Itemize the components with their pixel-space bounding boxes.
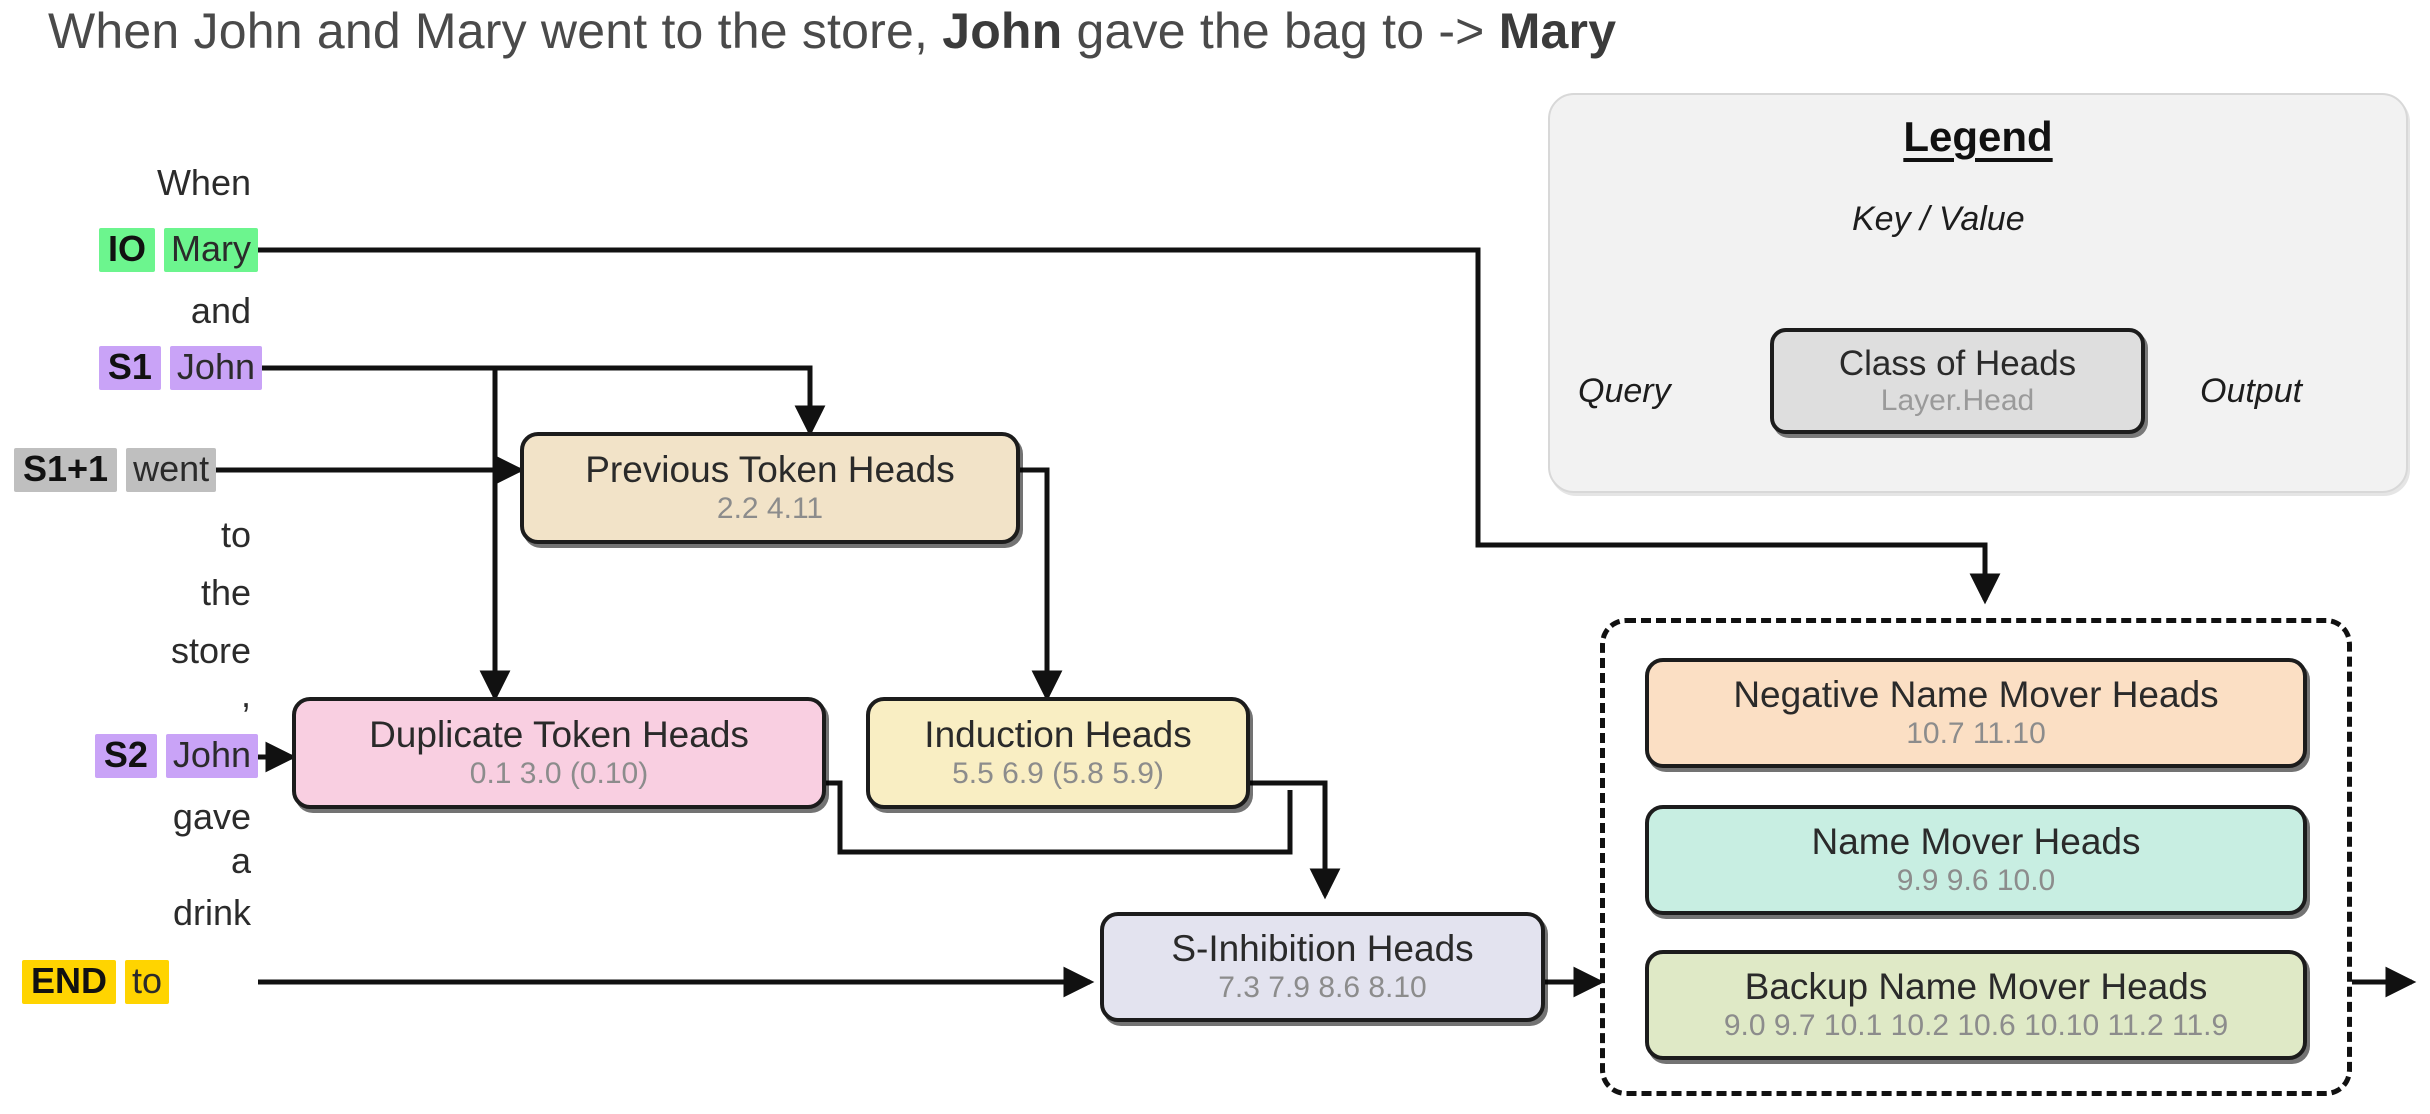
token-row: the xyxy=(0,570,258,618)
token-word-s2: John xyxy=(166,734,258,778)
token-tag-s1plus1: S1+1 xyxy=(14,448,117,492)
node-heads-list: 2.2 4.11 xyxy=(717,492,823,527)
node-negative-name-mover-heads[interactable]: Negative Name Mover Heads 10.7 11.10 xyxy=(1645,658,2307,768)
token-word: , xyxy=(234,674,258,718)
edge-s1-to-previous-token-heads xyxy=(262,368,810,432)
token-word-end: to xyxy=(125,960,169,1004)
token-row-s2: S2 John xyxy=(0,732,258,780)
legend-title: Legend xyxy=(1550,113,2406,161)
token-word: store xyxy=(164,630,258,674)
node-title: Backup Name Mover Heads xyxy=(1745,966,2208,1007)
edge-previous-token-to-induction xyxy=(1018,470,1047,697)
token-tag-end: END xyxy=(22,960,116,1004)
token-row-io: IO Mary xyxy=(0,226,258,274)
node-duplicate-token-heads[interactable]: Duplicate Token Heads 0.1 3.0 (0.10) xyxy=(292,697,826,809)
token-word: a xyxy=(224,840,258,884)
token-row: and xyxy=(0,288,258,336)
node-title: Previous Token Heads xyxy=(585,449,955,490)
token-tag-s2: S2 xyxy=(95,734,157,778)
node-heads-list: 7.3 7.9 8.6 8.10 xyxy=(1218,971,1427,1006)
token-word: When xyxy=(150,162,258,206)
node-title: Negative Name Mover Heads xyxy=(1733,674,2218,715)
node-s-inhibition-heads[interactable]: S-Inhibition Heads 7.3 7.9 8.6 8.10 xyxy=(1100,912,1545,1022)
token-word-s1plus1: went xyxy=(126,448,216,492)
node-backup-name-mover-heads[interactable]: Backup Name Mover Heads 9.0 9.7 10.1 10.… xyxy=(1645,950,2307,1060)
node-heads-list: 9.9 9.6 10.0 xyxy=(1897,864,2055,899)
legend-output-label: Output xyxy=(2200,372,2302,411)
token-row-s1plus1: S1+1 went xyxy=(0,446,264,494)
token-row: When xyxy=(0,160,258,208)
token-row-end: END to xyxy=(0,958,272,1006)
legend-query-label: Query xyxy=(1578,372,1671,411)
token-row: drink xyxy=(0,890,258,938)
node-heads-list: 5.5 6.9 (5.8 5.9) xyxy=(952,757,1164,792)
token-word: the xyxy=(194,572,258,616)
token-word: gave xyxy=(166,796,258,840)
token-row: store xyxy=(0,628,258,676)
node-title: Name Mover Heads xyxy=(1811,821,2140,862)
node-title: Duplicate Token Heads xyxy=(369,714,749,755)
token-word-s1: John xyxy=(170,346,262,390)
node-previous-token-heads[interactable]: Previous Token Heads 2.2 4.11 xyxy=(520,432,1020,544)
legend-node-subtitle: Layer.Head xyxy=(1881,384,2034,418)
node-heads-list: 10.7 11.10 xyxy=(1906,717,2046,752)
token-word: and xyxy=(184,290,258,334)
node-heads-list: 0.1 3.0 (0.10) xyxy=(470,757,648,792)
token-row: to xyxy=(0,512,258,560)
node-name-mover-heads[interactable]: Name Mover Heads 9.9 9.6 10.0 xyxy=(1645,805,2307,915)
node-title: S-Inhibition Heads xyxy=(1171,928,1473,969)
token-tag-io: IO xyxy=(99,228,155,272)
token-row: , xyxy=(0,672,258,720)
node-title: Induction Heads xyxy=(924,714,1191,755)
legend-node-title: Class of Heads xyxy=(1839,344,2076,384)
node-heads-list: 9.0 9.7 10.1 10.2 10.6 10.10 11.2 11.9 xyxy=(1724,1009,2228,1044)
token-word: drink xyxy=(166,892,258,936)
token-row: gave xyxy=(0,794,258,842)
node-induction-heads[interactable]: Induction Heads 5.5 6.9 (5.8 5.9) xyxy=(866,697,1250,809)
token-word-io: Mary xyxy=(164,228,258,272)
token-row: a xyxy=(0,838,258,886)
legend-class-of-heads-node[interactable]: Class of Heads Layer.Head xyxy=(1770,328,2145,434)
token-row-s1: S1 John xyxy=(0,344,262,392)
token-word: to xyxy=(214,514,258,558)
token-tag-s1: S1 xyxy=(99,346,161,390)
legend-key-value-label: Key / Value xyxy=(1852,200,2025,239)
